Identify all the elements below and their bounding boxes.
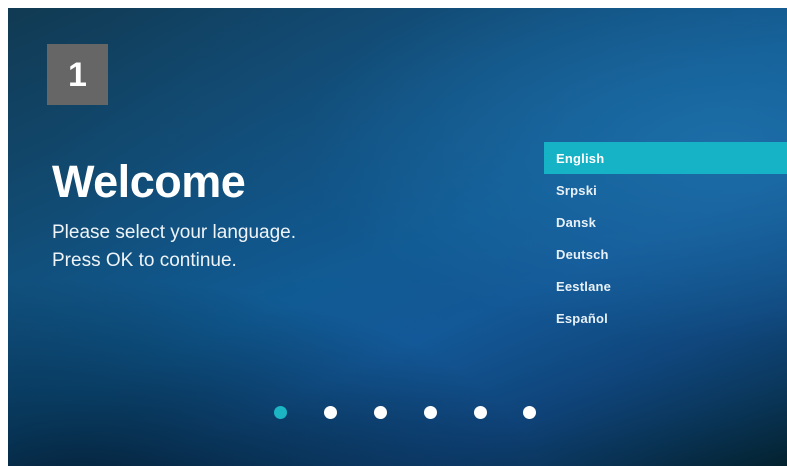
language-list[interactable]: English Srpski Dansk Deutsch Eestlane Es…: [544, 142, 787, 334]
setup-wizard-screen: 1 Welcome Please select your language. P…: [8, 8, 787, 466]
pagination-dot-5[interactable]: [474, 406, 487, 419]
pagination-dot-3[interactable]: [374, 406, 387, 419]
headline-block: Welcome Please select your language. Pre…: [52, 158, 482, 274]
language-option-deutsch[interactable]: Deutsch: [544, 238, 787, 270]
subtitle-line-1: Please select your language.: [52, 219, 482, 247]
pagination-dot-4[interactable]: [424, 406, 437, 419]
pagination-dot-6[interactable]: [523, 406, 536, 419]
language-option-english[interactable]: English: [544, 142, 787, 174]
language-option-dansk[interactable]: Dansk: [544, 206, 787, 238]
screen-root: 1 Welcome Please select your language. P…: [0, 0, 787, 466]
subtitle-line-2: Press OK to continue.: [52, 247, 482, 275]
language-option-srpski[interactable]: Srpski: [544, 174, 787, 206]
step-number-label: 1: [68, 58, 87, 92]
page-title: Welcome: [52, 158, 482, 205]
pagination-dots: [266, 406, 546, 426]
step-number-badge: 1: [47, 44, 108, 105]
language-option-eestlane[interactable]: Eestlane: [544, 270, 787, 302]
pagination-dot-2[interactable]: [324, 406, 337, 419]
pagination-dot-1[interactable]: [274, 406, 287, 419]
language-option-espanol[interactable]: Español: [544, 302, 787, 334]
